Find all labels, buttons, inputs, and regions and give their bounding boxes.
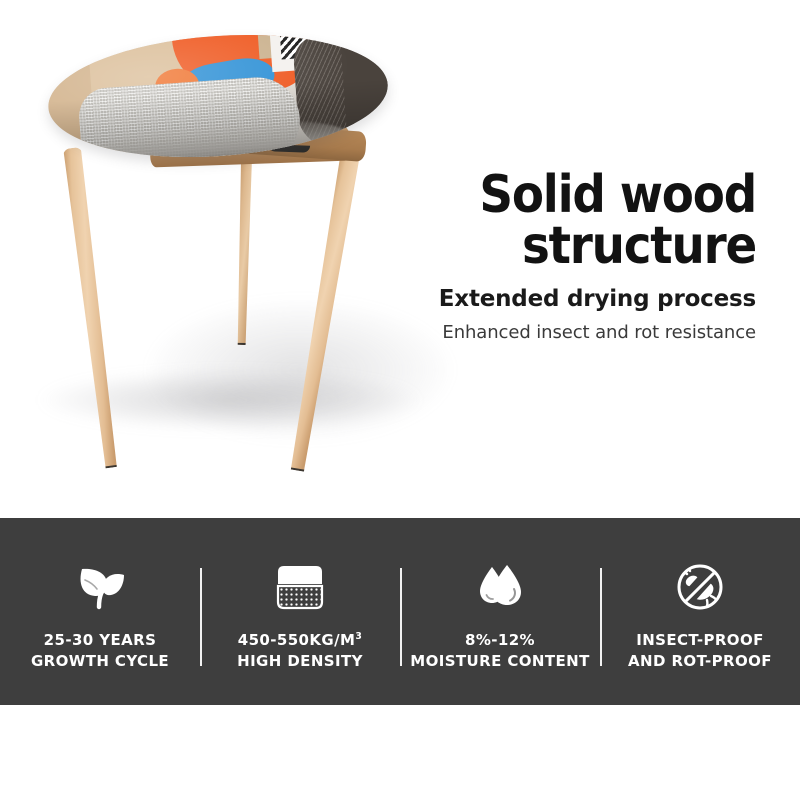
feature-bar: 25-30 YEARS GROWTH CYCLE	[0, 518, 800, 705]
seat-shading	[44, 24, 392, 167]
product-photo: Solid wood structure Extended drying pro…	[0, 0, 800, 518]
stool-seat-patchwork	[44, 24, 392, 167]
feature-insect-rot-proof: INSECT-PROOF AND ROT-PROOF	[600, 518, 800, 705]
feature-label: 8%-12% MOISTURE CONTENT	[410, 630, 589, 671]
feature-high-density: 450-550KG/M3 HIGH DENSITY	[200, 518, 400, 705]
page-title: Solid wood structure	[336, 170, 756, 272]
hero-copy: Solid wood structure Extended drying pro…	[336, 170, 756, 343]
feature-line-2: MOISTURE CONTENT	[410, 651, 589, 671]
subheadline: Extended drying process	[336, 286, 756, 312]
leg-foot	[101, 464, 121, 472]
feature-line-1: 25-30 YEARS	[31, 630, 169, 650]
feature-line-2: HIGH DENSITY	[237, 651, 363, 671]
feature-line-2: AND ROT-PROOF	[628, 651, 772, 671]
feature-moisture-content: 8%-12% MOISTURE CONTENT	[400, 518, 600, 705]
feature-line-1: INSECT-PROOF	[628, 630, 772, 650]
feature-line-2: GROWTH CYCLE	[31, 651, 169, 671]
density-block-icon	[274, 558, 326, 616]
supporting-text: Enhanced insect and rot resistance	[336, 322, 756, 343]
no-insect-icon	[673, 558, 727, 616]
feature-line-1: 8%-12%	[410, 630, 589, 650]
feature-label: INSECT-PROOF AND ROT-PROOF	[628, 630, 772, 671]
headline-line-2: structure	[336, 221, 756, 272]
density-value: 450-550KG/M	[238, 631, 356, 649]
feature-line-1: 450-550KG/M3	[237, 630, 363, 650]
feature-label: 25-30 YEARS GROWTH CYCLE	[31, 630, 169, 671]
water-drops-icon	[474, 558, 526, 616]
leg-foot	[286, 467, 309, 476]
product-infographic-page: Solid wood structure Extended drying pro…	[0, 0, 800, 800]
feature-growth-cycle: 25-30 YEARS GROWTH CYCLE	[0, 518, 200, 705]
feature-label: 450-550KG/M3 HIGH DENSITY	[237, 630, 363, 671]
leaf-icon	[72, 558, 128, 616]
density-superscript: 3	[355, 631, 362, 642]
